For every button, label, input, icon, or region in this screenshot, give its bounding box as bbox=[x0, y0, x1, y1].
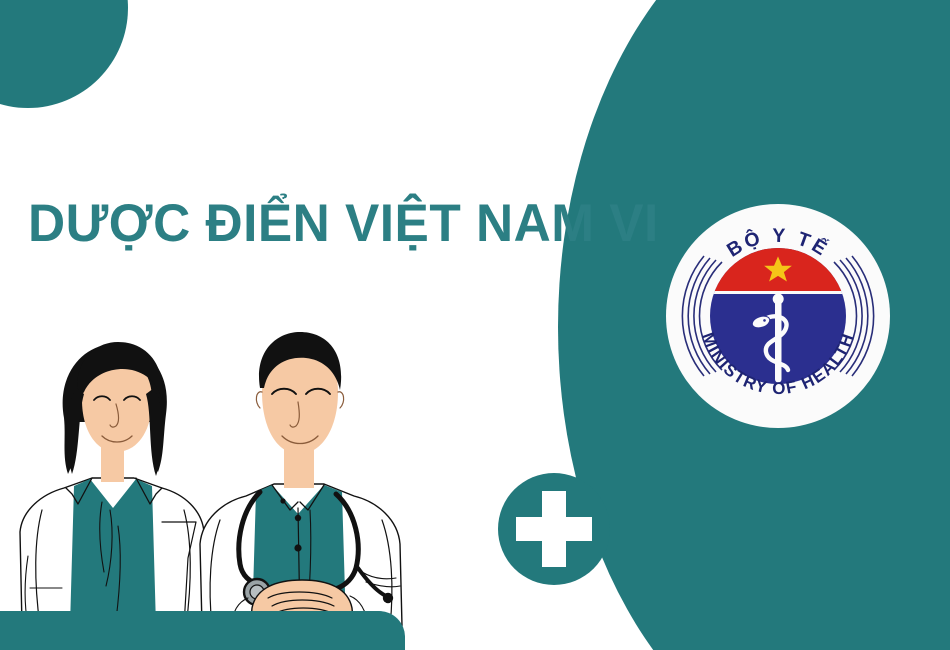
counter-desk-bar bbox=[0, 611, 405, 650]
ministry-of-health-logo: BỘ Y TẾ MINISTRY OF HEALTH BỘ Y TẾ MINIS… bbox=[666, 204, 890, 428]
two-doctors-illustration bbox=[6, 296, 446, 636]
poster-canvas: BỘ Y TẾ MINISTRY OF HEALTH BỘ Y TẾ MINIS… bbox=[0, 0, 950, 650]
female-doctor bbox=[20, 342, 204, 626]
medical-cross-badge bbox=[498, 473, 610, 585]
page-title: DƯỢC ĐIỂN VIỆT NAM VI bbox=[28, 196, 659, 252]
top-left-circle-decoration bbox=[0, 0, 128, 108]
male-doctor bbox=[200, 332, 402, 630]
